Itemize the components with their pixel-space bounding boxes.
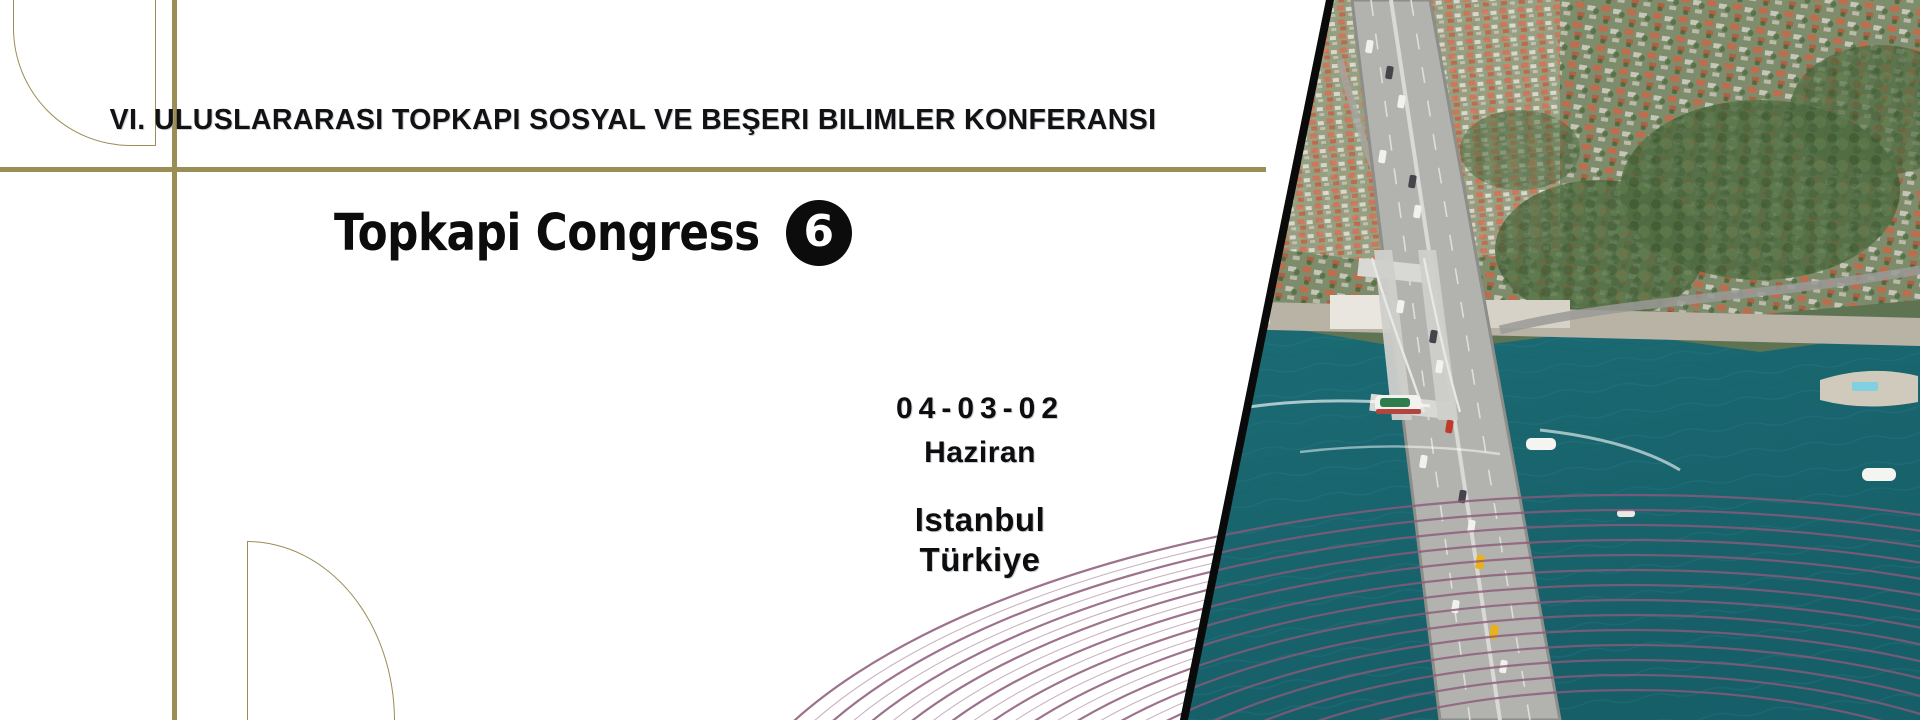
logo-wordmark: Topkapi Congress (334, 203, 760, 262)
event-location: Istanbul Türkiye (780, 500, 1180, 579)
d-arc-outline-icon (247, 541, 395, 720)
logo-number-badge: 6 (786, 200, 852, 266)
conference-poster: VI. ULUSLARARASI TOPKAPI SOSYAL VE BEŞER… (0, 0, 1920, 720)
event-date-month: Haziran (780, 436, 1180, 470)
event-date-days: 04-03-02 (780, 392, 1180, 426)
logo: Topkapi Congress 6 (0, 200, 1170, 266)
gold-horizontal-line (0, 167, 1266, 172)
event-location-city: Istanbul (780, 500, 1180, 540)
page-title: VI. ULUSLARARASI TOPKAPI SOSYAL VE BEŞER… (0, 104, 1266, 137)
event-date: 04-03-02 Haziran (780, 392, 1180, 470)
event-location-country: Türkiye (780, 540, 1180, 580)
